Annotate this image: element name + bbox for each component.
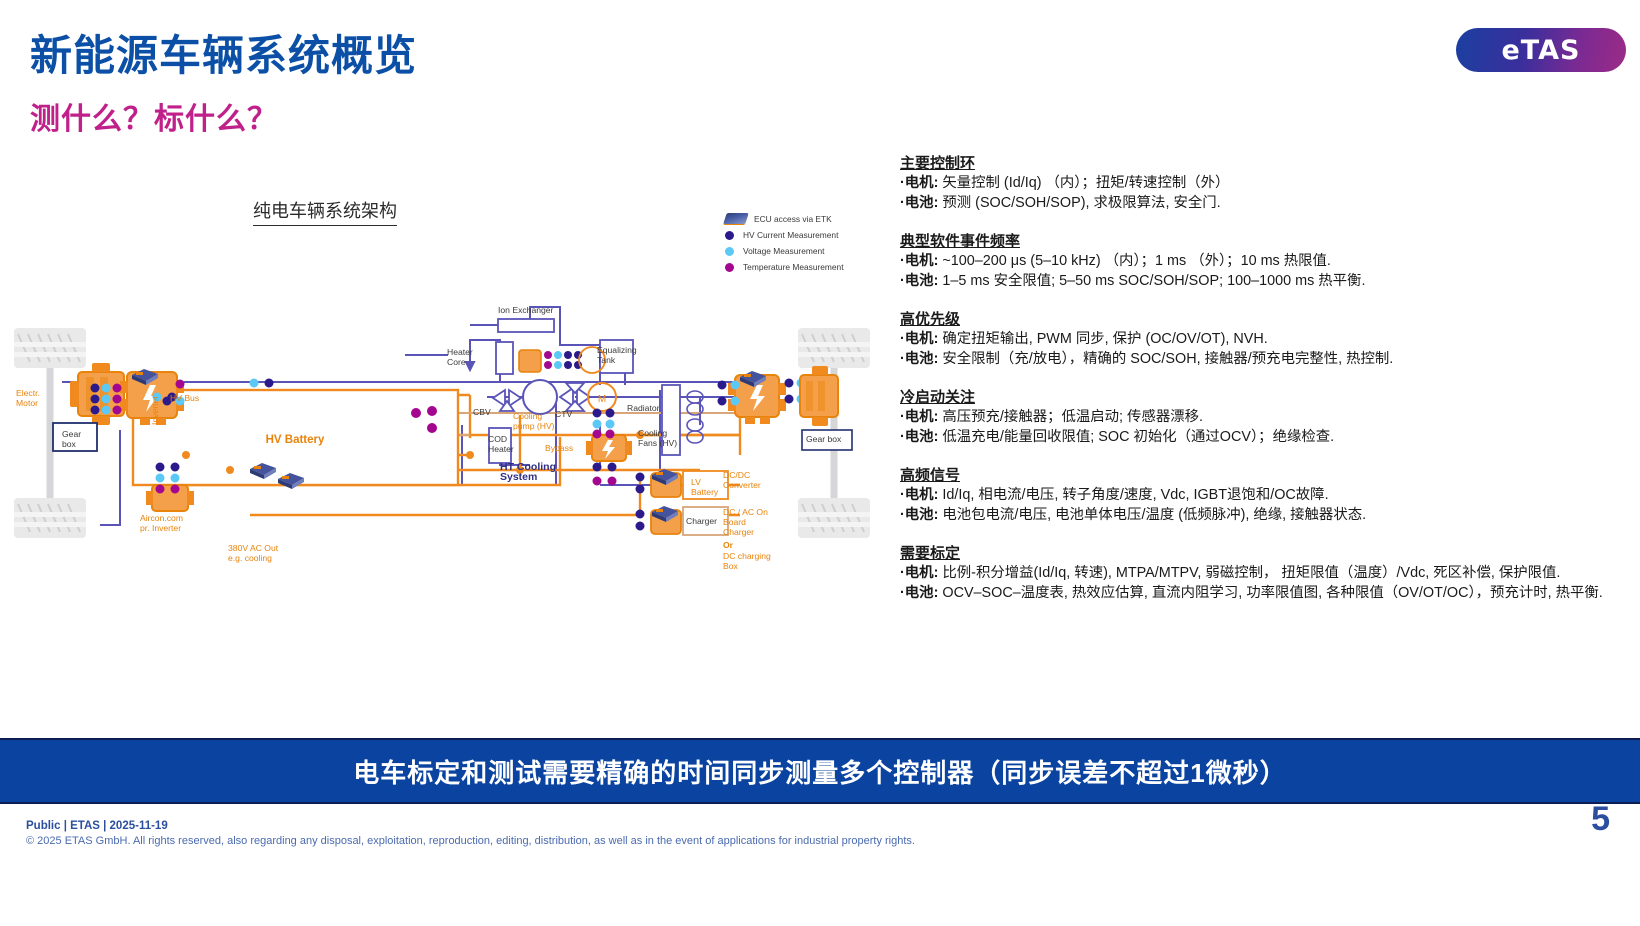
svg-text:HV Battery: HV Battery — [266, 434, 325, 446]
bullet-line: ·电池: 预测 (SOC/SOH/SOP), 求极限算法, 安全门. — [900, 194, 1630, 214]
bullet-tag: ·电机: — [900, 487, 938, 503]
label-charger: Charger — [686, 516, 717, 526]
bullet-text: 高压预充/接触器；低温启动; 传感器漂移. — [938, 409, 1203, 425]
label-gear-box-left: Gear box — [62, 429, 81, 449]
bullet-heading: 典型软件事件频率 — [900, 230, 1630, 251]
bullet-column: 主要控制环 ·电机: 矢量控制 (Id/Iq) （内）；扭矩/转速控制（外） ·… — [900, 152, 1630, 620]
bullet-line: ·电池: 1–5 ms 安全限值; 5–50 ms SOC/SOH/SOP; 1… — [900, 272, 1630, 292]
bullet-line: ·电机: Id/Iq, 相电流/电压, 转子角度/速度, Vdc, IGBT退饱… — [900, 486, 1630, 506]
bullet-heading: 需要标定 — [900, 542, 1630, 563]
page-number: 5 — [1591, 800, 1610, 839]
label-or: Or — [723, 540, 733, 550]
label-ctv: CTV — [555, 409, 572, 419]
label-gear-box-right: Gear box — [806, 434, 841, 444]
bullet-line: ·电池: 安全限制（充/放电），精确的 SOC/SOH, 接触器/预充电完整性,… — [900, 350, 1630, 370]
bullet-text: 安全限制（充/放电），精确的 SOC/SOH, 接触器/预充电完整性, 热控制. — [938, 351, 1393, 367]
bullet-tag: ·电机: — [900, 175, 938, 191]
bullet-tag: ·电机: — [900, 331, 938, 347]
bullet-line: ·电池: 电池包电流/电压, 电池单体电压/温度 (低频脉冲), 绝缘, 接触器… — [900, 506, 1630, 526]
bullet-text: 确定扭矩输出, PWM 同步, 保护 (OC/OV/OT), NVH. — [938, 331, 1267, 347]
bullet-line: ·电池: 低温充电/能量回收限值; SOC 初始化（通过OCV）；绝缘检查. — [900, 428, 1630, 448]
label-ion-exchanger: Ion Exchanger — [498, 305, 553, 315]
footer-copyright: © 2025 ETAS GmbH. All rights reserved, a… — [26, 835, 915, 847]
bullet-heading: 主要控制环 — [900, 152, 1630, 173]
bullet-tag: ·电机: — [900, 253, 938, 269]
label-lv-battery: LV Battery — [691, 477, 718, 497]
bullet-text: Id/Iq, 相电流/电压, 转子角度/速度, Vdc, IGBT退饱和/OC故… — [938, 487, 1328, 503]
bullet-line: ·电机: 确定扭矩输出, PWM 同步, 保护 (OC/OV/OT), NVH. — [900, 330, 1630, 350]
bullet-group: 主要控制环 ·电机: 矢量控制 (Id/Iq) （内）；扭矩/转速控制（外） ·… — [900, 152, 1630, 213]
bullet-group: 高优先级 ·电机: 确定扭矩输出, PWM 同步, 保护 (OC/OV/OT),… — [900, 308, 1630, 369]
bullet-group: 需要标定 ·电机: 比例-积分增益(Id/Iq, 转速), MTPA/MTPV,… — [900, 542, 1630, 603]
page-subtitle: 测什么？标什么？ — [30, 94, 278, 138]
bullet-heading: 高频信号 — [900, 464, 1630, 485]
label-inverter: Inverter — [150, 396, 160, 425]
bullet-line: ·电机: 比例-积分增益(Id/Iq, 转速), MTPA/MTPV, 弱磁控制… — [900, 564, 1630, 584]
label-radiator: Radiator — [627, 403, 659, 413]
banner-text: 电车标定和测试需要精确的时间同步测量多个控制器（同步误差不超过1微秒） — [353, 753, 1286, 790]
label-dc-charging-box: DC charging Box — [723, 551, 771, 571]
bullet-tag: ·电池: — [900, 195, 938, 211]
slide-root: 新能源车辆系统概览 测什么？标什么？ eTAS 纯电车辆系统架构 ECU acc… — [0, 0, 1640, 926]
label-cod-heater: COD Heater — [488, 434, 514, 454]
bullet-group: 高频信号 ·电机: Id/Iq, 相电流/电压, 转子角度/速度, Vdc, I… — [900, 464, 1630, 525]
bullet-heading: 冷启动关注 — [900, 386, 1630, 407]
label-hv-bus: HV Bus — [170, 393, 199, 403]
bullet-tag: ·电池: — [900, 507, 938, 523]
bullet-text: 预测 (SOC/SOH/SOP), 求极限算法, 安全门. — [938, 195, 1220, 211]
label-cbv: CBV — [473, 407, 491, 417]
bullet-line: ·电池: OCV–SOC–温度表, 热效应估算, 直流内阻学习, 功率限值图, … — [900, 584, 1630, 604]
bullet-text: 1–5 ms 安全限值; 5–50 ms SOC/SOH/SOP; 100–10… — [938, 273, 1365, 289]
label-bypass: Bypass — [545, 443, 573, 453]
bullet-tag: ·电池: — [900, 429, 938, 445]
label-cooling-fans: Cooling Fans (HV) — [638, 428, 677, 448]
vehicle-architecture-diagram: 纯电车辆系统架构 ECU access via ETK HV Current M… — [0, 185, 890, 615]
key-message-banner: 电车标定和测试需要精确的时间同步测量多个控制器（同步误差不超过1微秒） — [0, 738, 1640, 804]
bullet-text: 电池包电流/电压, 电池单体电压/温度 (低频脉冲), 绝缘, 接触器状态. — [938, 507, 1366, 523]
svg-text:M: M — [598, 394, 606, 405]
label-dcdc-converter: DC/DC Converter — [723, 470, 761, 490]
bullet-text: 比例-积分增益(Id/Iq, 转速), MTPA/MTPV, 弱磁控制， 扭矩限… — [938, 565, 1560, 581]
footer-classification: Public | ETAS | 2025-11-19 — [26, 820, 915, 832]
label-aircon-inverter: Aircon.com pr. Inverter — [140, 513, 183, 533]
bullet-tag: ·电机: — [900, 565, 938, 581]
bullet-group: 典型软件事件频率 ·电机: ~100–200 μs (5–10 kHz) （内）… — [900, 230, 1630, 291]
label-ht-cooling-system: HT Cooling System — [500, 462, 556, 482]
bullet-line: ·电机: ~100–200 μs (5–10 kHz) （内）；1 ms （外）… — [900, 252, 1630, 272]
bullet-tag: ·电池: — [900, 351, 938, 367]
label-electric-motor: Electr. Motor — [16, 388, 40, 408]
bullet-text: ~100–200 μs (5–10 kHz) （内）；1 ms （外）；10 m… — [938, 253, 1331, 269]
bullet-tag: ·电池: — [900, 273, 938, 289]
bullet-heading: 高优先级 — [900, 308, 1630, 329]
bullet-tag: ·电机: — [900, 409, 938, 425]
bullet-text: 低温充电/能量回收限值; SOC 初始化（通过OCV）；绝缘检查. — [938, 429, 1334, 445]
bullet-text: 矢量控制 (Id/Iq) （内）；扭矩/转速控制（外） — [938, 175, 1229, 191]
label-equalizing-tank: Equalizing Tank — [597, 345, 637, 365]
footer: Public | ETAS | 2025-11-19 © 2025 ETAS G… — [26, 820, 915, 847]
page-title: 新能源车辆系统概览 — [30, 22, 417, 83]
bullet-line: ·电机: 矢量控制 (Id/Iq) （内）；扭矩/转速控制（外） — [900, 174, 1630, 194]
label-onboard-charger: DC / AC On Board Charger — [723, 507, 768, 537]
label-ac-out: 380V AC Out e.g. cooling — [228, 543, 278, 563]
etas-logo-text: eTAS — [1502, 35, 1581, 66]
bullet-line: ·电机: 高压预充/接触器；低温启动; 传感器漂移. — [900, 408, 1630, 428]
bullet-group: 冷启动关注 ·电机: 高压预充/接触器；低温启动; 传感器漂移. ·电池: 低温… — [900, 386, 1630, 447]
label-heater-core: Heater Core — [447, 347, 473, 367]
bullet-tag: ·电池: — [900, 585, 938, 601]
label-cooling-pump: Cooling pump (HV) — [513, 411, 555, 431]
bullet-text: OCV–SOC–温度表, 热效应估算, 直流内阻学习, 功率限值图, 各种限值（… — [938, 585, 1602, 601]
etas-logo: eTAS — [1456, 28, 1626, 72]
